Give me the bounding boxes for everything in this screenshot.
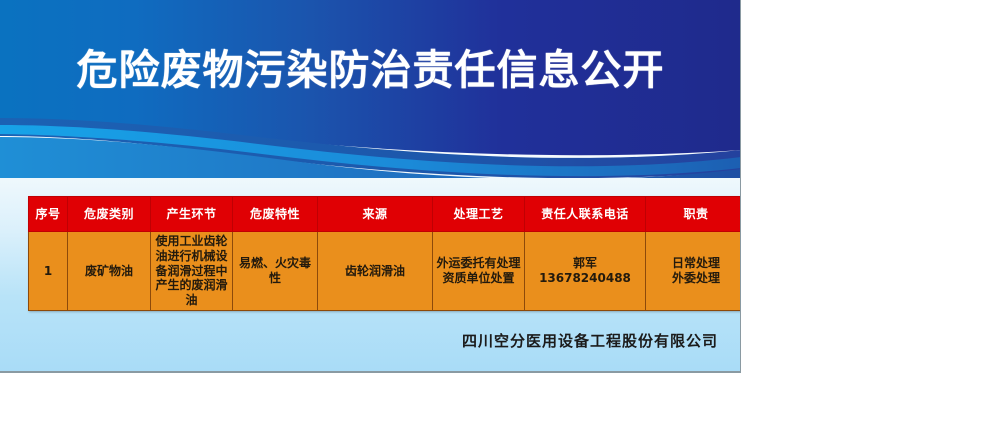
poster-banner: 危险废物污染防治责任信息公开 (0, 0, 741, 178)
cell-index: 1 (29, 232, 68, 311)
cell-treatment-process: 外运委托有处理资质单位处置 (433, 232, 525, 311)
table-row: 1 废矿物油 使用工业齿轮油进行机械设备润滑过程中产生的废润滑油 易燃、火灾毒性… (29, 232, 742, 311)
hazardous-waste-table: 序号 危废类别 产生环节 危废特性 来源 处理工艺 责任人联系电话 职责 1 废… (28, 196, 741, 311)
cell-source: 齿轮润滑油 (318, 232, 433, 311)
cell-category: 废矿物油 (68, 232, 151, 311)
cell-responsible-contact: 郭军 13678240488 (525, 232, 646, 311)
table-header-row: 序号 危废类别 产生环节 危废特性 来源 处理工艺 责任人联系电话 职责 (29, 197, 742, 232)
cell-duty: 日常处理 外委处理 (646, 232, 742, 311)
column-header-index: 序号 (29, 197, 68, 232)
responsible-person-phone: 13678240488 (526, 271, 644, 286)
cell-hazard-property: 易燃、火灾毒性 (233, 232, 318, 311)
page-title: 危险废物污染防治责任信息公开 (0, 50, 741, 91)
column-header-source: 来源 (318, 197, 433, 232)
cell-generation-stage: 使用工业齿轮油进行机械设备润滑过程中产生的废润滑油 (151, 232, 233, 311)
column-header-contact: 责任人联系电话 (525, 197, 646, 232)
information-disclosure-poster: 危险废物污染防治责任信息公开 序号 危废类别 产生环节 危废特性 来源 处理工艺… (0, 0, 741, 373)
column-header-category: 危废类别 (68, 197, 151, 232)
responsible-person-name: 郭军 (526, 256, 644, 271)
column-header-property: 危废特性 (233, 197, 318, 232)
column-header-treatment: 处理工艺 (433, 197, 525, 232)
column-header-duty: 职责 (646, 197, 742, 232)
column-header-stage: 产生环节 (151, 197, 233, 232)
company-name: 四川空分医用设备工程股份有限公司 (0, 330, 718, 351)
